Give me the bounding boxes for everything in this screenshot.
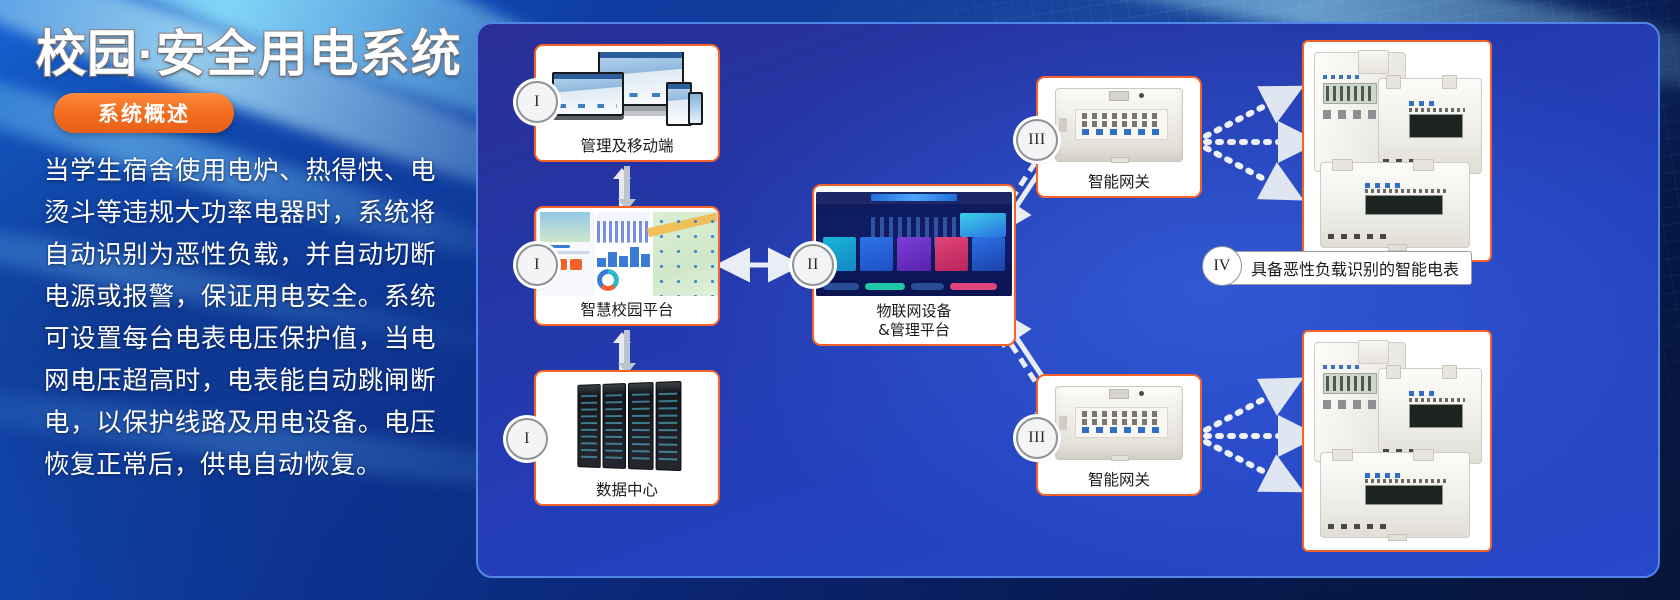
system-description-text: 当学生宿舍使用电炉、热得快、电烫斗等违规大功率电器时，系统将自动识别为恶性负载，… (44, 150, 436, 486)
badge-smart-meters: IV (1202, 246, 1242, 286)
node-data-center[interactable]: 数据中心 (534, 370, 720, 506)
node-label-line2: &管理平台 (814, 321, 1014, 340)
node-smart-campus[interactable]: 智慧校园平台 (534, 206, 720, 326)
page-title: 校园·安全用电系统 (36, 14, 462, 86)
poster-root: 校园·安全用电系统 系统概述 当学生宿舍使用电炉、热得快、电烫斗等违规大功率电器… (0, 0, 1680, 600)
gateway-device-illustration (1038, 382, 1200, 464)
node-admin-mobile[interactable]: 管理及移动端 (534, 44, 720, 162)
badge-data-center: I (506, 418, 548, 460)
intro-column: 校园·安全用电系统 系统概述 当学生宿舍使用电炉、热得快、电烫斗等违规大功率电器… (0, 0, 470, 600)
node-label: 智能网关 (1038, 471, 1200, 489)
badge-admin-mobile: I (516, 81, 558, 123)
campus-platform-screenshot (536, 212, 718, 296)
server-rack-illustration (536, 378, 718, 474)
devices-illustration (536, 52, 718, 130)
node-label: 智慧校园平台 (536, 301, 718, 319)
node-iot-platform[interactable]: 物联网设备 &管理平台 (812, 184, 1016, 346)
node-gateway-bottom[interactable]: 智能网关 (1036, 374, 1202, 496)
server-rack-icon (577, 381, 681, 471)
architecture-diagram-panel: 管理及移动端 I (476, 22, 1660, 578)
node-label: 智能网关 (1038, 173, 1200, 191)
smart-meter-din-rail (1320, 452, 1470, 538)
meter-panel-bottom[interactable] (1302, 330, 1492, 552)
badge-gateway-top: III (1016, 119, 1058, 161)
iot-dashboard-screenshot (814, 192, 1014, 296)
system-overview-badge: 系统概述 (54, 93, 234, 133)
smart-meter-caption: 具备恶性负载识别的智能电表 (1216, 251, 1472, 285)
badge-iot-platform: II (792, 244, 834, 286)
badge-smart-campus: I (516, 244, 558, 286)
smart-meter-din-rail (1320, 162, 1470, 248)
node-label: 管理及移动端 (536, 137, 718, 155)
gateway-device-illustration (1038, 84, 1200, 166)
node-label: 物联网设备 &管理平台 (814, 302, 1014, 340)
node-label: 数据中心 (536, 481, 718, 499)
node-gateway-top[interactable]: 智能网关 (1036, 76, 1202, 198)
badge-gateway-bottom: III (1016, 417, 1058, 459)
node-label-line1: 物联网设备 (814, 302, 1014, 321)
meter-panel-top[interactable] (1302, 40, 1492, 262)
